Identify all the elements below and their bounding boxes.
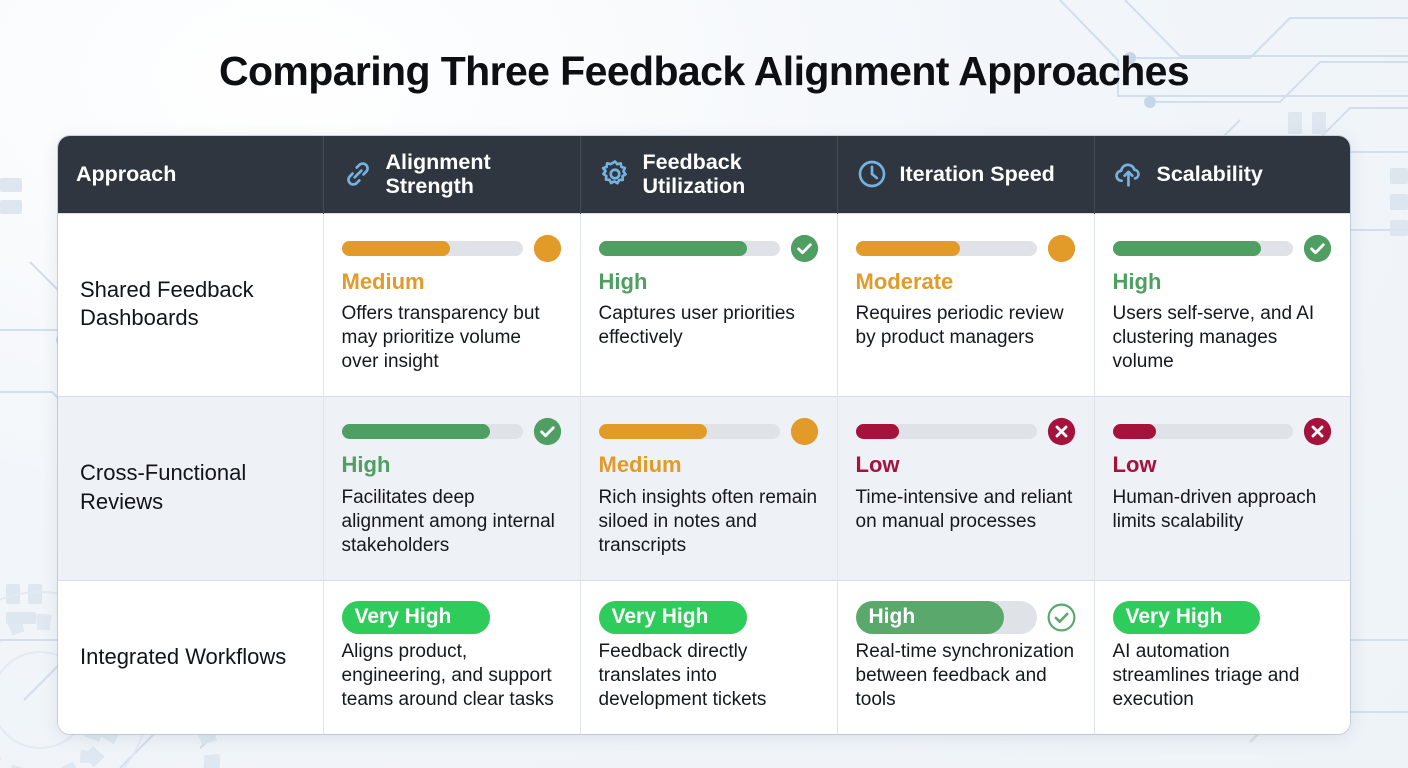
metric-cell: HighReal-time synchronization between fe… xyxy=(837,580,1094,734)
green-check-badge xyxy=(1303,234,1332,263)
table-row: Integrated WorkflowsVery HighAligns prod… xyxy=(58,580,1350,734)
rating-meter: Very High xyxy=(599,601,819,634)
page-title: Comparing Three Feedback Alignment Appro… xyxy=(0,0,1408,95)
green-check-badge xyxy=(533,417,562,446)
meter-track xyxy=(599,241,780,256)
rating-label: Very High xyxy=(612,601,709,634)
metric-cell: MediumOffers transparency but may priori… xyxy=(323,213,580,397)
rating-meter: High xyxy=(856,601,1076,634)
link-icon xyxy=(342,158,374,190)
header-row: Approach Alignmen xyxy=(58,136,1350,213)
metric-cell: MediumRich insights often remain siloed … xyxy=(580,397,837,581)
rating-label: Very High xyxy=(1126,601,1223,634)
table-body: Shared Feedback DashboardsMediumOffers t… xyxy=(58,213,1350,734)
table-row: Cross-Functional ReviewsHighFacilitates … xyxy=(58,397,1350,581)
double-check-pair-badge xyxy=(1270,601,1332,634)
table-row: Shared Feedback DashboardsMediumOffers t… xyxy=(58,213,1350,397)
metric-description: Time-intensive and reliant on manual pro… xyxy=(856,486,1076,534)
gear-icon xyxy=(599,158,631,190)
metric-description: Users self-serve, and AI clustering mana… xyxy=(1113,302,1333,374)
cloud-upload-icon xyxy=(1113,158,1145,190)
rating-label: High xyxy=(869,601,916,634)
metric-description: Rich insights often remain siloed in not… xyxy=(599,486,819,558)
double-check-pair-badge xyxy=(757,601,819,634)
meter-fill xyxy=(1113,241,1261,256)
column-header-iteration-speed: Iteration Speed xyxy=(837,136,1094,213)
meter-fill xyxy=(342,424,490,439)
meter-fill xyxy=(1113,424,1156,439)
meter-track: Very High xyxy=(599,601,747,634)
metric-description: Real-time synchronization between feedba… xyxy=(856,640,1076,712)
rating-meter xyxy=(1113,234,1333,263)
column-header-scalability: Scalability xyxy=(1094,136,1350,213)
column-header-label: Feedback Utilization xyxy=(643,150,819,199)
orange-dot-badge xyxy=(533,234,562,263)
column-header-label: Approach xyxy=(76,162,176,186)
rating-meter: Very High xyxy=(1113,601,1333,634)
rating-meter xyxy=(856,417,1076,446)
meter-track xyxy=(342,241,523,256)
metric-description: AI automation streamlines triage and exe… xyxy=(1113,640,1333,712)
column-header-label: Alignment Strength xyxy=(386,150,562,199)
meter-track: Very High xyxy=(1113,601,1261,634)
rating-meter: Very High xyxy=(342,601,562,634)
rating-label: Moderate xyxy=(856,269,1076,294)
meter-fill xyxy=(599,424,708,439)
metric-cell: LowHuman-driven approach limits scalabil… xyxy=(1094,397,1350,581)
orange-dot-badge xyxy=(790,417,819,446)
approach-name-cell: Integrated Workflows xyxy=(58,580,323,734)
rating-label: High xyxy=(599,269,819,294)
meter-track xyxy=(1113,424,1294,439)
comparison-table: Approach Alignmen xyxy=(58,136,1350,734)
table-header: Approach Alignmen xyxy=(58,136,1350,213)
meter-track: Very High xyxy=(342,601,490,634)
meter-fill xyxy=(599,241,747,256)
approach-name-cell: Cross-Functional Reviews xyxy=(58,397,323,581)
rating-meter xyxy=(1113,417,1333,446)
column-header-label: Iteration Speed xyxy=(900,162,1055,186)
comparison-table-container: Approach Alignmen xyxy=(58,136,1350,734)
metric-cell: Very HighFeedback directly translates in… xyxy=(580,580,837,734)
meter-track xyxy=(856,241,1037,256)
rating-label: High xyxy=(342,452,562,477)
metric-cell: HighFacilitates deep alignment among int… xyxy=(323,397,580,581)
column-header-approach: Approach xyxy=(58,136,323,213)
page-root: Comparing Three Feedback Alignment Appro… xyxy=(0,0,1408,768)
column-header-label: Scalability xyxy=(1157,162,1263,186)
rating-label: Medium xyxy=(342,269,562,294)
approach-name-cell: Shared Feedback Dashboards xyxy=(58,213,323,397)
rating-label: Low xyxy=(1113,452,1333,477)
green-check-outline-badge xyxy=(1047,603,1076,632)
meter-track xyxy=(1113,241,1294,256)
metric-cell: HighUsers self-serve, and AI clustering … xyxy=(1094,213,1350,397)
column-header-feedback-utilization: Feedback Utilization xyxy=(580,136,837,213)
metric-description: Facilitates deep alignment among interna… xyxy=(342,486,562,558)
clock-icon xyxy=(856,158,888,190)
red-x-badge xyxy=(1047,417,1076,446)
meter-track xyxy=(856,424,1037,439)
metric-cell: HighCaptures user priorities effectively xyxy=(580,213,837,397)
metric-description: Captures user priorities effectively xyxy=(599,302,819,350)
meter-fill xyxy=(856,241,961,256)
green-check-badge xyxy=(790,234,819,263)
rating-meter xyxy=(342,417,562,446)
metric-description: Requires periodic review by product mana… xyxy=(856,302,1076,350)
metric-cell: Very HighAligns product, engineering, an… xyxy=(323,580,580,734)
rating-label: Low xyxy=(856,452,1076,477)
metric-description: Human-driven approach limits scalability xyxy=(1113,486,1333,534)
rating-meter xyxy=(856,234,1076,263)
orange-dot-badge xyxy=(1047,234,1076,263)
column-header-alignment-strength: Alignment Strength xyxy=(323,136,580,213)
metric-description: Aligns product, engineering, and support… xyxy=(342,640,562,712)
meter-track: High xyxy=(856,601,1037,634)
metric-description: Feedback directly translates into develo… xyxy=(599,640,819,712)
meter-fill xyxy=(856,424,899,439)
metric-description: Offers transparency but may prioritize v… xyxy=(342,302,562,374)
rating-label: High xyxy=(1113,269,1333,294)
metric-cell: Very HighAI automation streamlines triag… xyxy=(1094,580,1350,734)
rating-meter xyxy=(342,234,562,263)
rating-meter xyxy=(599,417,819,446)
red-x-badge xyxy=(1303,417,1332,446)
meter-fill xyxy=(342,241,451,256)
rating-label: Very High xyxy=(355,601,452,634)
meter-track xyxy=(599,424,780,439)
rating-label: Medium xyxy=(599,452,819,477)
metric-cell: LowTime-intensive and reliant on manual … xyxy=(837,397,1094,581)
metric-cell: ModerateRequires periodic review by prod… xyxy=(837,213,1094,397)
meter-track xyxy=(342,424,523,439)
double-check-pair-badge xyxy=(500,601,562,634)
rating-meter xyxy=(599,234,819,263)
